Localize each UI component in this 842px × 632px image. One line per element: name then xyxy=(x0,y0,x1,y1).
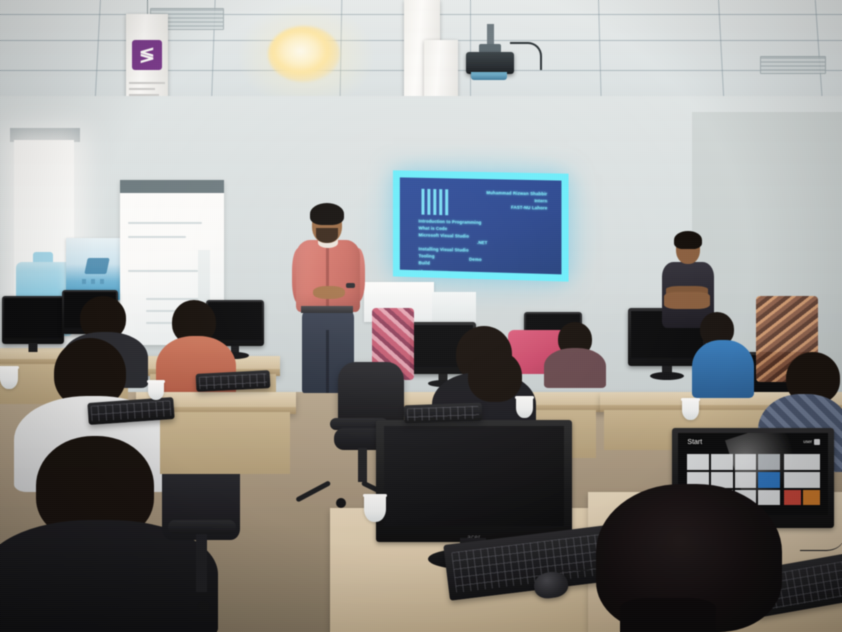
projector-mount xyxy=(487,24,494,46)
presenter-wristwatch xyxy=(346,283,355,288)
avatar xyxy=(814,439,820,445)
visual-studio-logo-icon: ≶ xyxy=(132,40,162,70)
projection-screen-border xyxy=(393,170,569,281)
start-tile[interactable] xyxy=(758,472,780,488)
start-tile[interactable] xyxy=(735,454,757,470)
mouse-cable xyxy=(556,540,598,571)
standing-observer-hair xyxy=(674,231,702,249)
start-tile[interactable] xyxy=(758,490,780,506)
monitor-screen[interactable] xyxy=(384,426,564,526)
paper-cup[interactable] xyxy=(516,396,533,418)
classroom-photo: ≶ Muhammad Rizwan Shabbir xyxy=(0,0,842,632)
office-chair-gas-post xyxy=(196,534,207,592)
office-chair-caster xyxy=(336,498,346,508)
office-chair-gas-post xyxy=(358,448,367,482)
projector-cable xyxy=(510,42,542,70)
start-tile[interactable] xyxy=(784,454,820,470)
monitor-screen[interactable] xyxy=(208,302,261,340)
paper-cup[interactable] xyxy=(682,398,699,420)
monitor-foreground[interactable]: acer xyxy=(376,420,572,542)
start-tile[interactable] xyxy=(758,454,780,470)
keyboard-keys[interactable] xyxy=(407,405,479,421)
presenter-leg-seam xyxy=(326,330,329,393)
standing-observer-crossed-arms xyxy=(664,292,710,309)
windows8-user-name: user xyxy=(803,439,812,444)
keyboard[interactable] xyxy=(404,403,483,424)
windows8-user-tile[interactable]: user xyxy=(803,439,820,445)
presenter-belt xyxy=(301,306,353,313)
student-center-2-head xyxy=(468,350,522,402)
paper-cup[interactable] xyxy=(0,366,18,389)
keyboard-keys[interactable] xyxy=(91,400,171,422)
start-tile[interactable] xyxy=(803,490,820,506)
start-tile[interactable] xyxy=(711,454,733,470)
ceiling-projector xyxy=(466,52,514,74)
whiteboard-header-band xyxy=(120,180,224,193)
start-tile[interactable] xyxy=(735,472,757,488)
student-foreground-neck xyxy=(620,598,716,632)
keyboard-keys[interactable] xyxy=(199,373,268,390)
presenter-hair xyxy=(310,203,344,225)
ceiling-light xyxy=(268,26,340,82)
projection-screen: Muhammad Rizwan Shabbir Intern FAST-NU L… xyxy=(393,170,569,281)
student-center-back-shoulders xyxy=(544,348,606,388)
paper-cup[interactable] xyxy=(148,380,164,400)
banner-cord xyxy=(147,0,148,14)
projector-lens xyxy=(471,72,507,80)
banner-visual-studio: ≶ xyxy=(126,14,168,106)
monitor-screen[interactable] xyxy=(4,298,61,337)
windows8-tile-group-right[interactable] xyxy=(784,454,820,505)
presenter-beard xyxy=(316,228,338,243)
start-tile[interactable] xyxy=(784,490,801,506)
monitor-left-far[interactable] xyxy=(2,296,64,344)
office-chair-caster xyxy=(198,600,210,612)
presenter-hands xyxy=(313,286,345,299)
air-vent xyxy=(760,56,826,74)
wall-board-lower-right xyxy=(432,292,476,324)
start-tile[interactable] xyxy=(687,454,709,470)
start-tile[interactable] xyxy=(784,472,820,488)
paper-cup[interactable] xyxy=(364,494,386,522)
desk-front-panel xyxy=(160,412,290,474)
monitor-stand xyxy=(29,343,38,352)
windows8-start-label: Start xyxy=(687,439,702,446)
monitor-cable xyxy=(800,516,842,551)
office-chair-armrest[interactable] xyxy=(168,520,236,534)
student-right-hijab-body xyxy=(692,340,754,398)
